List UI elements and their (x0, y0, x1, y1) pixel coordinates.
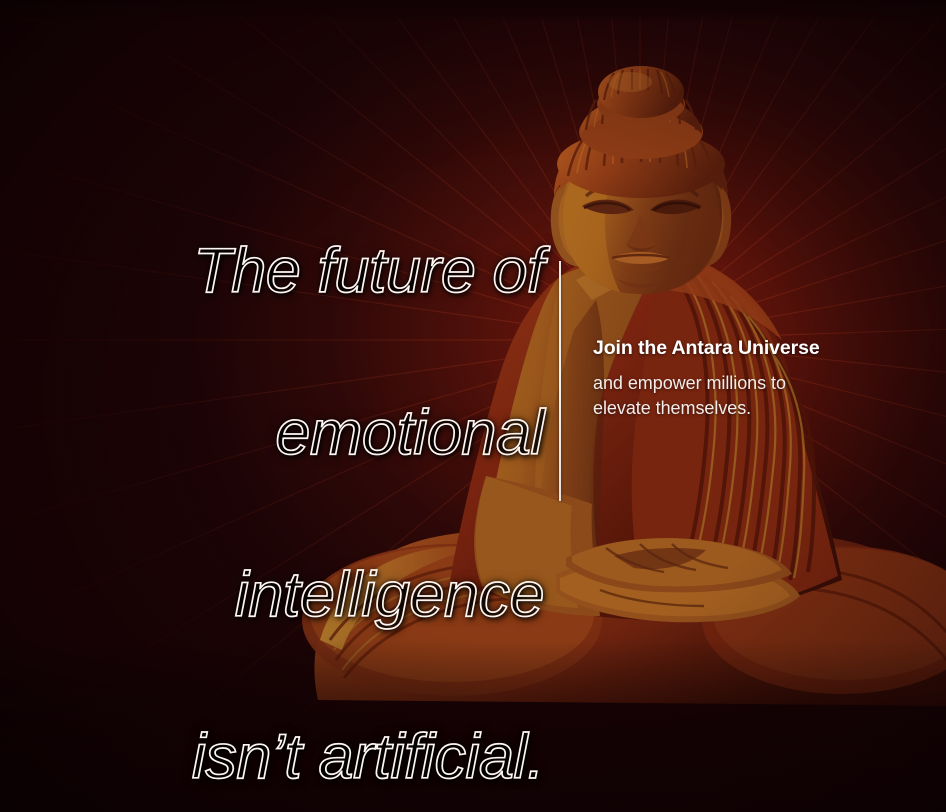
headline-line-2: emotional (34, 393, 544, 474)
vertical-divider (559, 261, 561, 501)
callout-subtitle-line-1: and empower millions to (593, 371, 898, 396)
poster-canvas: The future of emotional intelligence isn… (0, 0, 946, 812)
callout-title: Join the Antara Universe (593, 336, 898, 360)
callout-copy: Join the Antara Universe and empower mil… (593, 336, 898, 421)
headline-line-1: The future of (34, 231, 544, 312)
callout-subtitle: and empower millions to elevate themselv… (593, 371, 898, 421)
headline-line-4: isn’t artificial. (34, 717, 544, 798)
headline: The future of emotional intelligence isn… (34, 150, 544, 812)
headline-line-3: intelligence (34, 555, 544, 636)
callout-subtitle-line-2: elevate themselves. (593, 396, 898, 421)
